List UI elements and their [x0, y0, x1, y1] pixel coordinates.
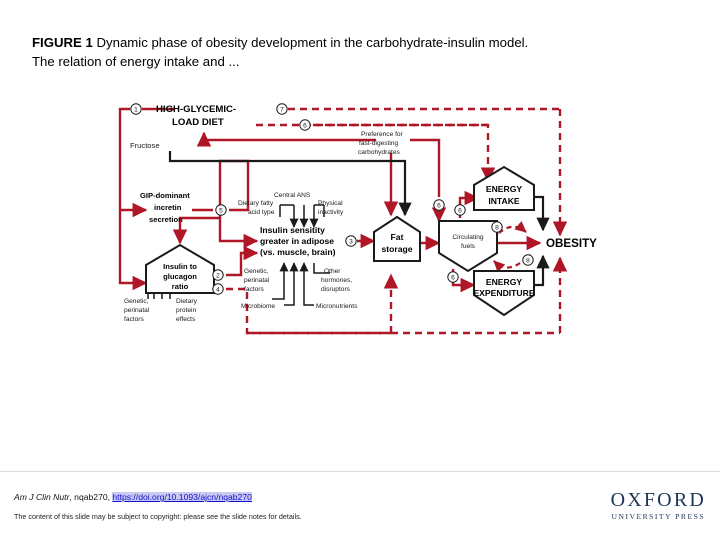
label-gip-l3: secretion [149, 215, 183, 224]
svg-text:8: 8 [495, 225, 499, 232]
marker-7: 7 [277, 104, 287, 114]
label-energy-intake-l1: ENERGY [486, 184, 523, 194]
label-high-glycemic-load-diet-l1: HIGH-GLYCEMIC- [156, 104, 236, 115]
marker-8a: 8 [492, 222, 502, 232]
label-dietary-protein-l2: protein [176, 307, 196, 314]
label-other-hormones-l1: Other [324, 268, 341, 275]
label-microbiome: Microbiome [241, 303, 275, 310]
label-genetic-left-l3: factors [124, 316, 144, 323]
label-energy-expenditure-l1: ENERGY [486, 277, 523, 287]
label-preference-l3: carbohydrates [358, 149, 400, 156]
label-physical-l1: Physical [318, 200, 343, 207]
label-genetic-mid-l2: perinatal [244, 277, 270, 284]
label-genetic-mid-l1: Genetic, [244, 268, 269, 275]
marker-6a: 6 [300, 120, 310, 130]
svg-text:1: 1 [134, 107, 138, 114]
citation-article-id: , nqab270, [69, 492, 112, 502]
svg-text:4: 4 [216, 287, 220, 294]
label-circulating-fuels-l1: Circulating [452, 234, 483, 241]
svg-text:5: 5 [219, 208, 223, 215]
figure-caption-text: Dynamic phase of obesity development in … [32, 35, 528, 69]
svg-text:6: 6 [437, 203, 441, 210]
label-insulin-sensitivity-l1: Insulin sensitity [260, 225, 325, 235]
figure-caption: FIGURE 1 Dynamic phase of obesity develo… [32, 34, 532, 71]
label-insulin-glucagon-l3: ratio [172, 282, 189, 291]
label-energy-intake-l2: INTAKE [488, 196, 520, 206]
label-preference-l1: Preference for [361, 131, 404, 138]
oup-logo-line2: UNIVERSITY PRESS [611, 513, 706, 521]
label-insulin-glucagon-l1: Insulin to [163, 262, 197, 271]
label-insulin-sensitivity-l2: greater in adipose [260, 236, 334, 246]
label-fat-storage-l2: storage [381, 244, 412, 254]
label-dietary-fatty-l1: Dietary fatty [238, 200, 274, 207]
label-preference-l2: fast-digesting [359, 140, 399, 147]
svg-text:6: 6 [451, 275, 455, 282]
label-high-glycemic-load-diet-l2: LOAD DIET [172, 117, 224, 128]
label-genetic-left-l2: perinatal [124, 307, 150, 314]
svg-text:8: 8 [526, 258, 530, 265]
footer-divider [0, 471, 720, 472]
label-circulating-fuels-l2: fuels [461, 243, 476, 250]
figure-caption-label: FIGURE 1 [32, 35, 93, 50]
figure-image: 1 7 6 5 2 4 3 6 6 8 8 6 HIGH-GLYCEMIC- L… [108, 93, 612, 348]
svg-text:3: 3 [349, 239, 353, 246]
marker-8b: 8 [523, 255, 533, 265]
label-energy-expenditure-l2: EXPENDITURE [473, 288, 534, 298]
marker-2: 2 [213, 270, 223, 280]
label-genetic-mid-l3: factors [244, 286, 264, 293]
label-gip-l2: incretin [154, 203, 182, 212]
slide-canvas: FIGURE 1 Dynamic phase of obesity develo… [0, 0, 720, 540]
doi-link[interactable]: https://doi.org/10.1093/ajcn/nqab270 [112, 492, 252, 502]
label-other-hormones-l3: disruptors [321, 286, 351, 293]
label-dietary-protein-l1: Dietary [176, 298, 198, 305]
marker-6b: 6 [434, 200, 444, 210]
citation-journal: Am J Clin Nutr [14, 492, 69, 502]
label-other-hormones-l2: hormones, [321, 277, 352, 284]
svg-text:6: 6 [458, 208, 462, 215]
marker-4: 4 [213, 284, 223, 294]
oup-logo-line1: OXFORD [611, 490, 706, 510]
label-fructose: Fructose [130, 141, 160, 150]
label-dietary-fatty-l2: acid type [248, 209, 275, 216]
marker-1: 1 [131, 104, 141, 114]
label-fat-storage-l1: Fat [391, 232, 404, 242]
label-micronutrients: Micronutrients [316, 303, 358, 310]
label-obesity: OBESITY [546, 237, 597, 250]
label-insulin-glucagon-l2: glucagon [163, 272, 197, 281]
oxford-university-press-logo: OXFORD UNIVERSITY PRESS [611, 490, 706, 521]
marker-3: 3 [346, 236, 356, 246]
marker-6d: 6 [448, 272, 458, 282]
label-central-ans: Central ANS [274, 192, 311, 199]
marker-5: 5 [216, 205, 226, 215]
citation: Am J Clin Nutr, nqab270, https://doi.org… [14, 492, 252, 502]
svg-text:7: 7 [280, 107, 284, 114]
svg-text:6: 6 [303, 123, 307, 130]
copyright-notice: The content of this slide may be subject… [14, 512, 302, 521]
svg-text:2: 2 [216, 273, 220, 280]
label-gip-l1: GIP-dominant [140, 191, 190, 200]
marker-6c: 6 [455, 205, 465, 215]
label-dietary-protein-l3: effects [176, 316, 196, 323]
label-physical-l2: inactivity [318, 209, 344, 216]
label-insulin-sensitivity-l3: (vs. muscle, brain) [260, 247, 336, 257]
label-genetic-left-l1: Genetic, [124, 298, 149, 305]
